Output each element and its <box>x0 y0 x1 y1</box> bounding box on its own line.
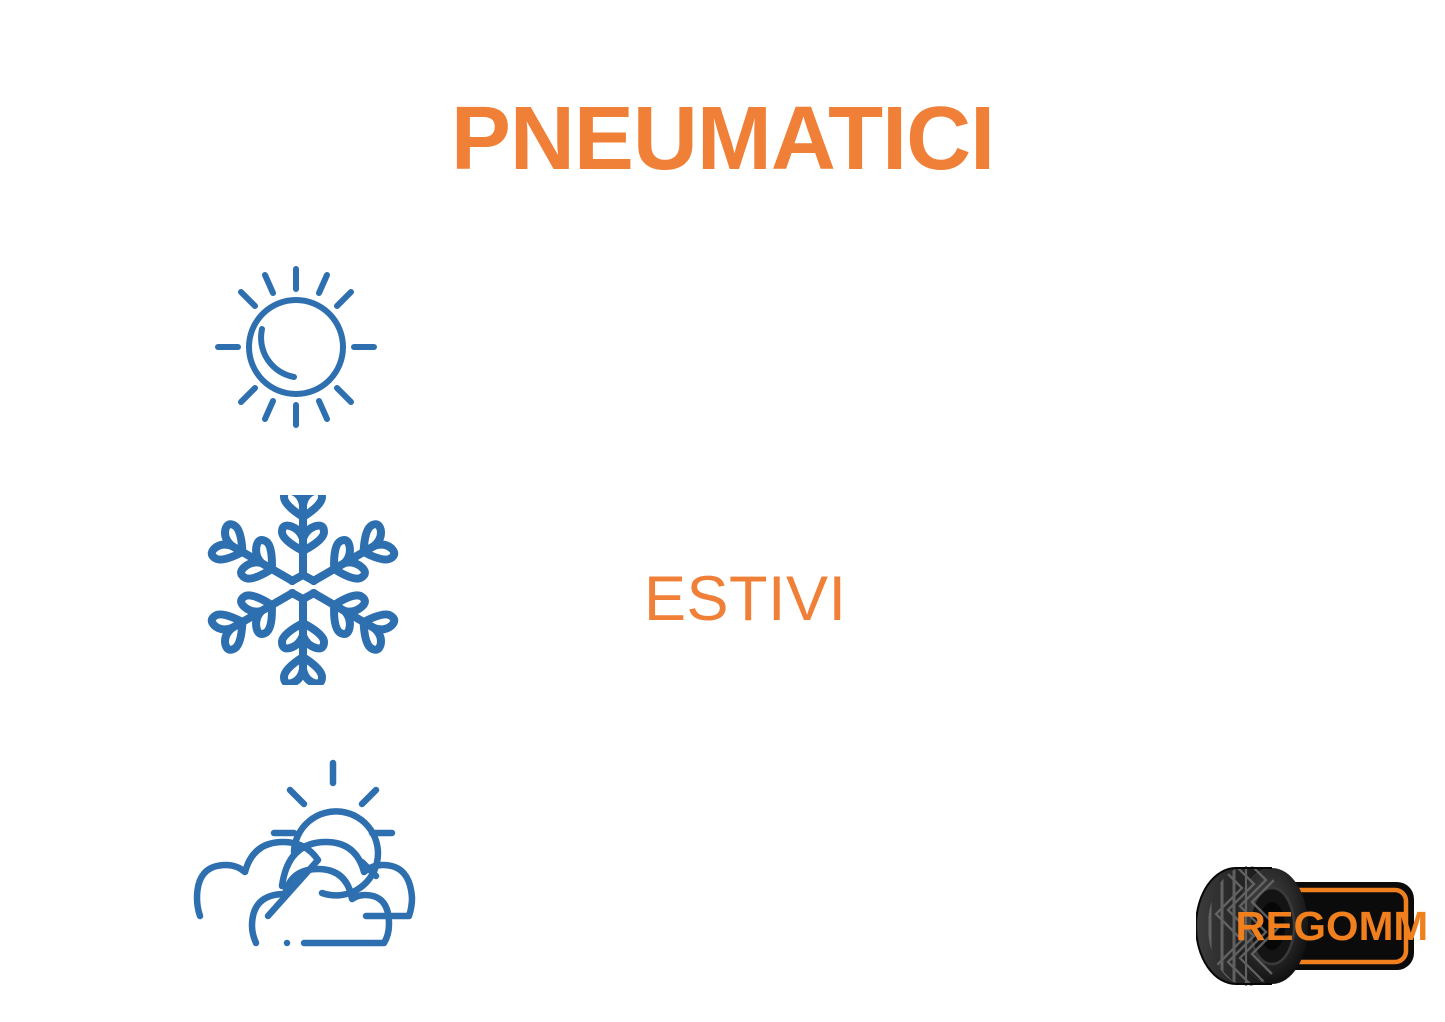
sun-behind-clouds-icon <box>190 755 410 945</box>
tyre-category-row-estivi: ESTIVI <box>0 255 1445 455</box>
poster-canvas: PNEUMATICI <box>0 0 1445 1022</box>
logo-brand-text: REGOMMA <box>1235 903 1428 949</box>
sun-icon <box>190 255 410 445</box>
tyre-category-row-invernali: INVERNALI <box>0 495 1445 695</box>
regomma-logo[interactable]: REGOMMA <box>1196 858 1428 998</box>
page-title: PNEUMATICI <box>0 94 1445 184</box>
snowflake-icon <box>190 495 410 685</box>
